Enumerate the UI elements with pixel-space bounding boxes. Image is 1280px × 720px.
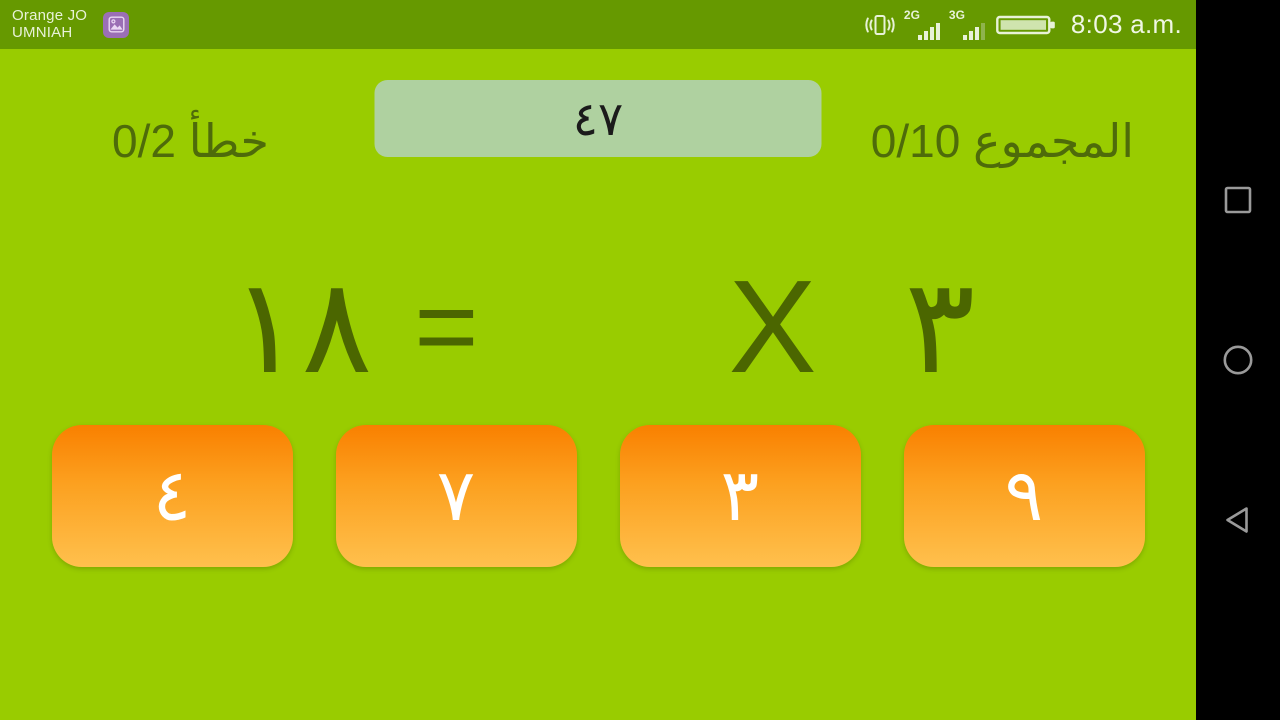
device-screen: Orange JO UMNIAH bbox=[0, 0, 1280, 720]
error-score-label: خطأ 0/2 bbox=[112, 118, 269, 164]
total-score-label: المجموع 0/10 bbox=[871, 118, 1134, 164]
answer-option-4[interactable]: ٤ bbox=[52, 425, 293, 567]
answer-option-3[interactable]: ٣ bbox=[620, 425, 861, 567]
equals-operator-icon: = bbox=[414, 272, 478, 382]
signal-bar bbox=[963, 35, 967, 40]
equation-display: ٣ X = ١٨ bbox=[0, 262, 1196, 392]
status-bar: Orange JO UMNIAH bbox=[0, 0, 1196, 49]
signal-bar bbox=[981, 23, 985, 40]
timer-box: ٤٧ bbox=[375, 80, 822, 157]
square-recents-icon[interactable] bbox=[1214, 176, 1262, 224]
triangle-back-icon[interactable] bbox=[1214, 496, 1262, 544]
score-header: خطأ 0/2 ٤٧ المجموع 0/10 bbox=[0, 49, 1196, 189]
battery-icon bbox=[996, 11, 1058, 39]
app-viewport: Orange JO UMNIAH bbox=[0, 0, 1196, 720]
screenshot-image-icon[interactable] bbox=[103, 12, 129, 38]
carrier-name-primary: Orange JO bbox=[12, 8, 87, 25]
timer-value: ٤٧ bbox=[573, 95, 624, 142]
answer-option-9[interactable]: ٩ bbox=[904, 425, 1145, 567]
signal-bar bbox=[975, 27, 979, 40]
android-navigation-bar bbox=[1196, 0, 1280, 720]
signal-bar bbox=[930, 27, 934, 40]
equation-operand: ٣ bbox=[905, 261, 976, 393]
signal-indicator-sim2: 3G bbox=[949, 10, 985, 40]
signal-indicator-sim1: 2G bbox=[904, 10, 940, 40]
equation-result: ١٨ bbox=[231, 261, 373, 393]
signal-bars-sim2 bbox=[963, 23, 985, 40]
network-type-sim1: 2G bbox=[904, 9, 920, 21]
signal-bar bbox=[924, 31, 928, 40]
network-type-sim2: 3G bbox=[949, 9, 965, 21]
status-bar-indicators: 2G 3G bbox=[865, 9, 1196, 40]
status-bar-clock: 8:03 a.m. bbox=[1071, 9, 1182, 40]
signal-bar bbox=[969, 31, 973, 40]
carrier-names: Orange JO UMNIAH bbox=[0, 8, 87, 42]
answer-options-row: ٩ ٣ ٧ ٤ bbox=[0, 423, 1196, 568]
circle-home-icon[interactable] bbox=[1214, 336, 1262, 384]
signal-bar bbox=[936, 23, 940, 40]
signal-bars-sim1 bbox=[918, 23, 940, 40]
carrier-name-secondary: UMNIAH bbox=[12, 25, 87, 42]
multiplication-operator-icon: X bbox=[729, 261, 817, 393]
vibrate-icon bbox=[865, 11, 895, 39]
answer-option-7[interactable]: ٧ bbox=[336, 425, 577, 567]
signal-bar bbox=[918, 35, 922, 40]
